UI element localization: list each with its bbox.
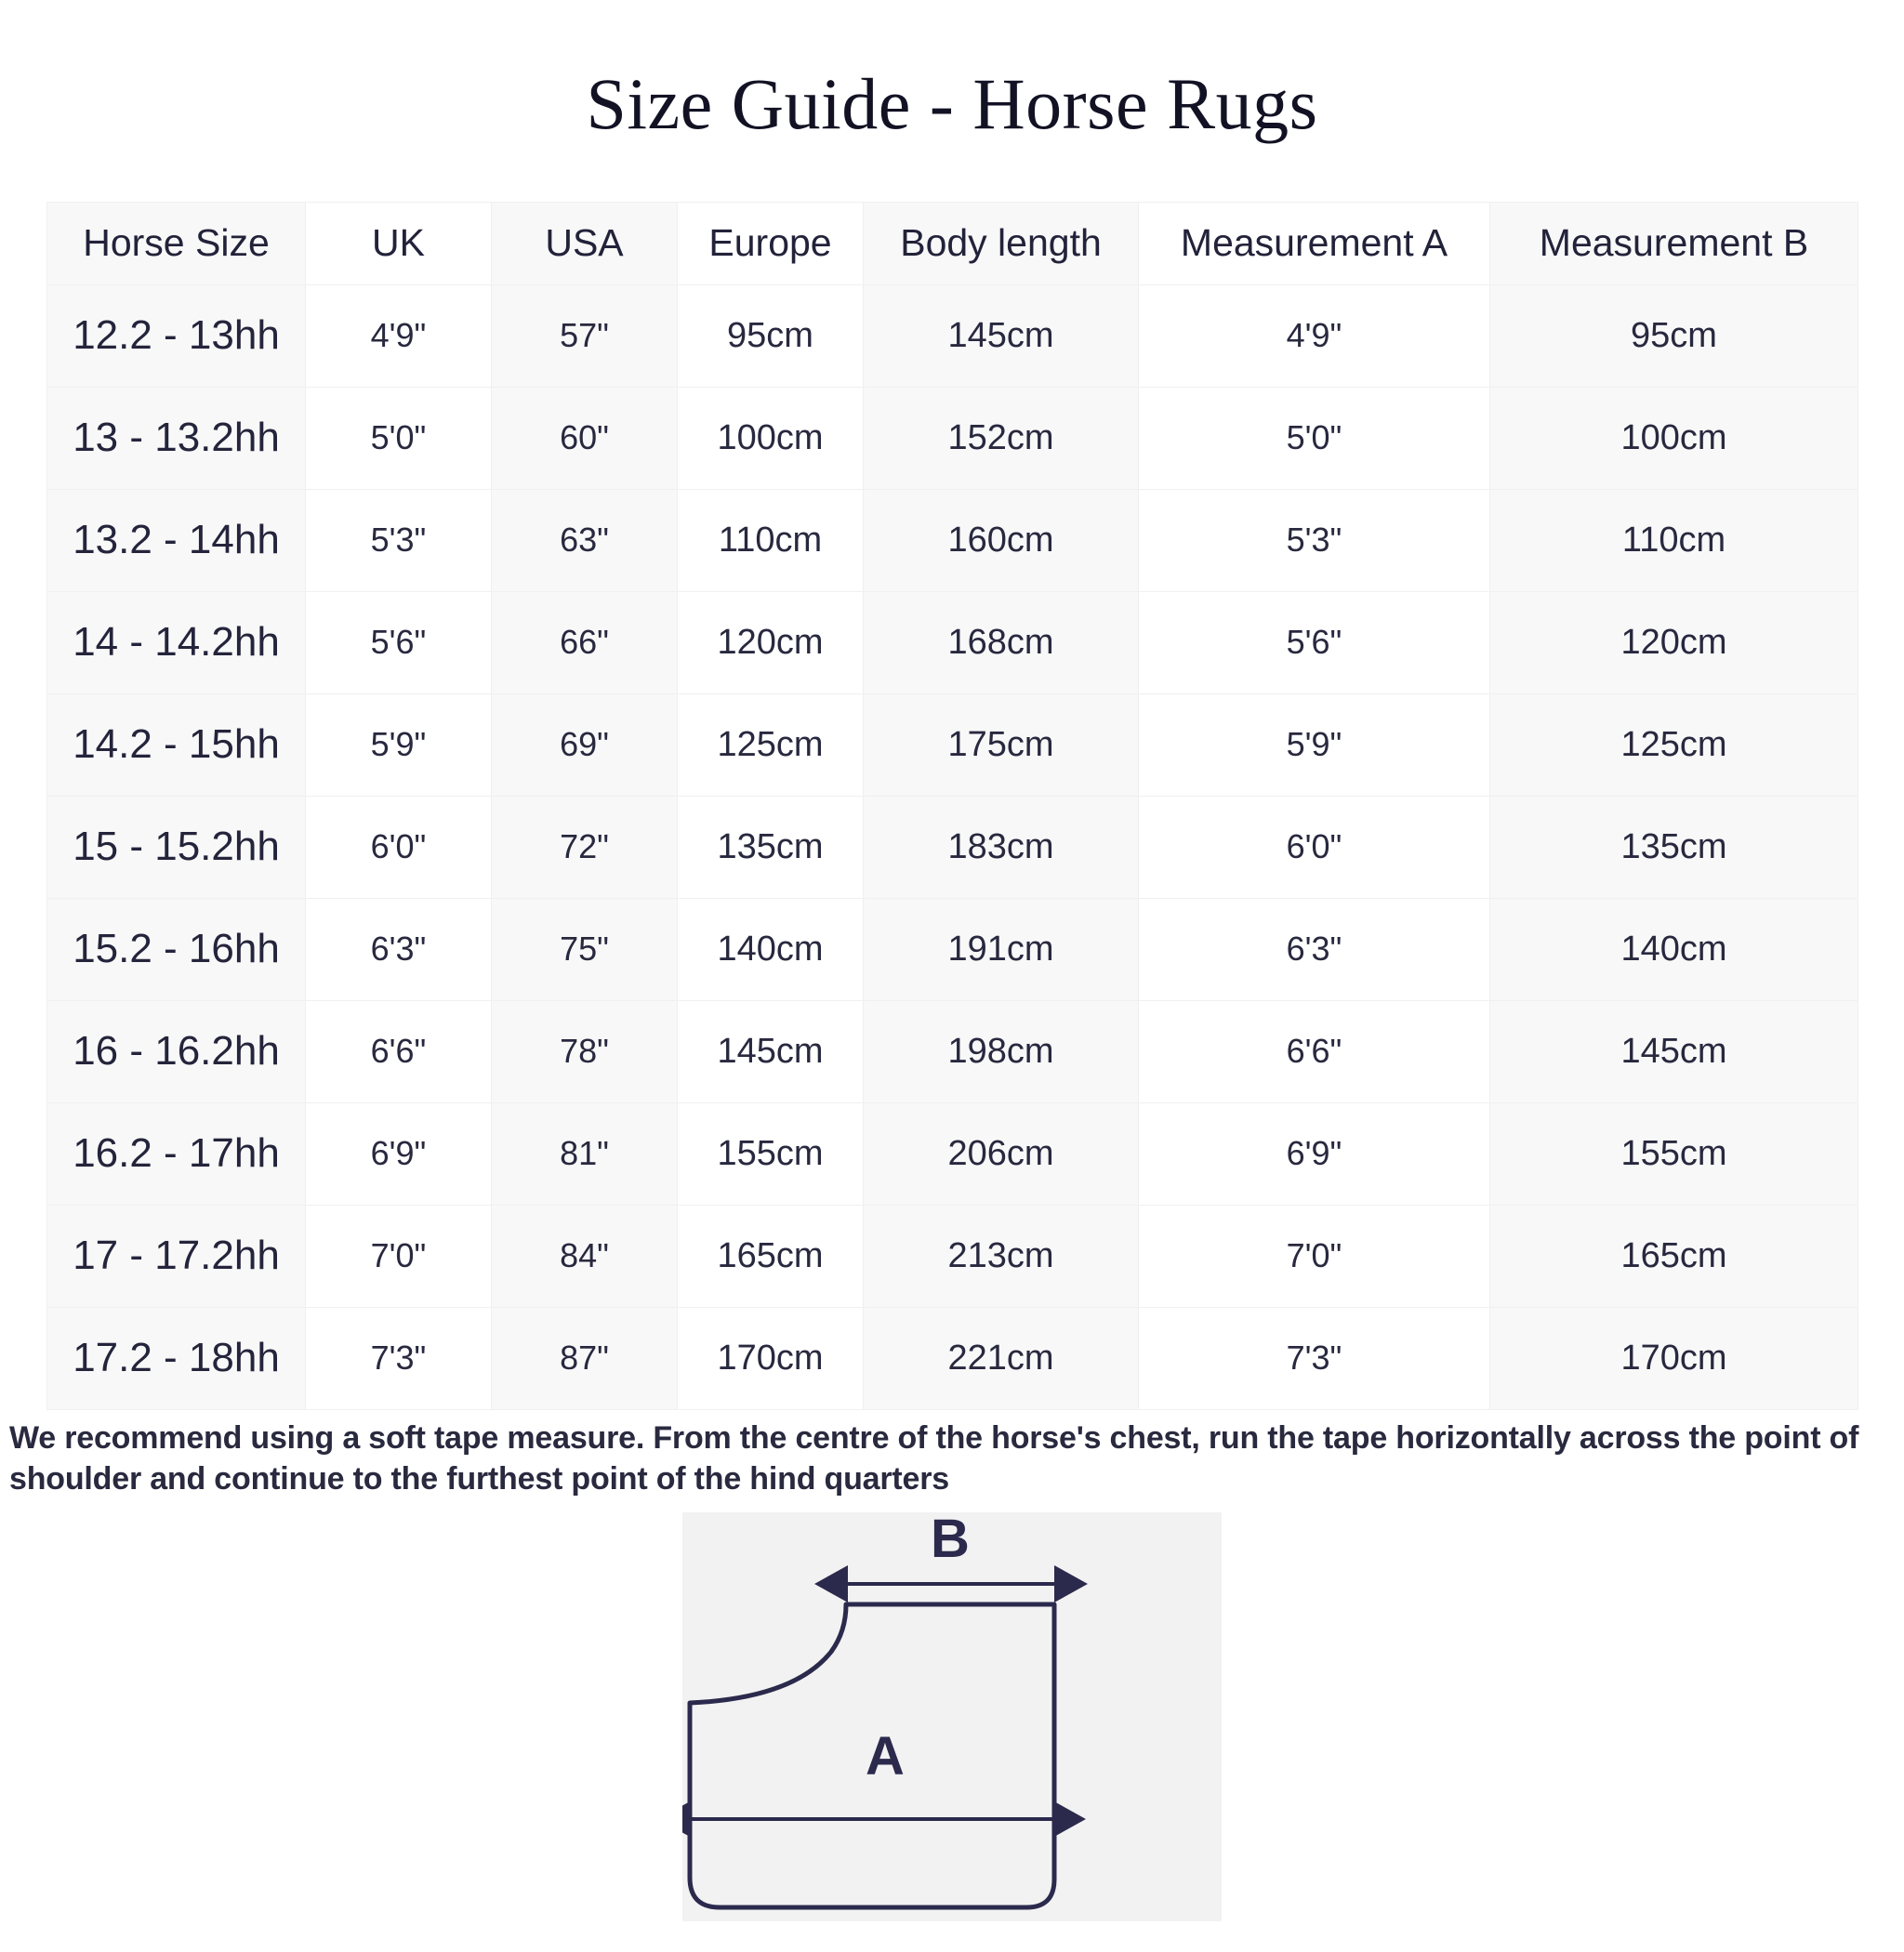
table-cell-horse-size: 12.2 - 13hh	[47, 284, 306, 387]
table-cell: 87"	[492, 1307, 678, 1409]
table-cell: 155cm	[1490, 1102, 1858, 1205]
table-cell-horse-size: 16.2 - 17hh	[47, 1102, 306, 1205]
table-cell: 5'0"	[1139, 387, 1490, 489]
table-cell: 160cm	[864, 489, 1139, 591]
rug-diagram-area: B A	[0, 1512, 1904, 1921]
column-header-europe: Europe	[678, 202, 864, 284]
table-cell: 5'9"	[306, 693, 492, 796]
table-cell: 72"	[492, 796, 678, 898]
table-cell: 152cm	[864, 387, 1139, 489]
table-row: 13 - 13.2hh5'0"60"100cm152cm5'0"100cm	[47, 387, 1858, 489]
table-cell: 60"	[492, 387, 678, 489]
table-cell: 6'9"	[1139, 1102, 1490, 1205]
table-cell: 175cm	[864, 693, 1139, 796]
table-cell: 5'3"	[1139, 489, 1490, 591]
table-cell: 155cm	[678, 1102, 864, 1205]
table-cell: 5'3"	[306, 489, 492, 591]
table-cell-horse-size: 15.2 - 16hh	[47, 898, 306, 1000]
table-header-row: Horse Size UK USA Europe Body length Mea…	[47, 202, 1858, 284]
table-cell: 75"	[492, 898, 678, 1000]
table-cell: 183cm	[864, 796, 1139, 898]
table-cell-horse-size: 16 - 16.2hh	[47, 1000, 306, 1102]
table-cell: 125cm	[678, 693, 864, 796]
table-cell: 6'9"	[306, 1102, 492, 1205]
column-header-usa: USA	[492, 202, 678, 284]
table-row: 14 - 14.2hh5'6"66"120cm168cm5'6"120cm	[47, 591, 1858, 693]
table-cell: 81"	[492, 1102, 678, 1205]
table-cell: 57"	[492, 284, 678, 387]
table-row: 17.2 - 18hh7'3"87"170cm221cm7'3"170cm	[47, 1307, 1858, 1409]
table-row: 15 - 15.2hh6'0"72"135cm183cm6'0"135cm	[47, 796, 1858, 898]
table-cell-horse-size: 17 - 17.2hh	[47, 1205, 306, 1307]
measuring-instructions: We recommend using a soft tape measure. …	[9, 1418, 1895, 1499]
table-cell: 95cm	[678, 284, 864, 387]
column-header-measurement-a: Measurement A	[1139, 202, 1490, 284]
size-table-container: Horse Size UK USA Europe Body length Mea…	[46, 202, 1858, 1410]
column-header-body-length: Body length	[864, 202, 1139, 284]
table-cell: 5'6"	[306, 591, 492, 693]
table-cell: 206cm	[864, 1102, 1139, 1205]
table-cell: 5'6"	[1139, 591, 1490, 693]
rug-diagram-panel: B A	[682, 1512, 1222, 1921]
table-cell: 221cm	[864, 1307, 1139, 1409]
table-cell: 120cm	[1490, 591, 1858, 693]
table-row: 15.2 - 16hh6'3"75"140cm191cm6'3"140cm	[47, 898, 1858, 1000]
table-row: 17 - 17.2hh7'0"84"165cm213cm7'0"165cm	[47, 1205, 1858, 1307]
page-title: Size Guide - Horse Rugs	[0, 48, 1904, 152]
column-header-measurement-b: Measurement B	[1490, 202, 1858, 284]
table-cell: 165cm	[678, 1205, 864, 1307]
table-cell: 69"	[492, 693, 678, 796]
table-cell: 140cm	[1490, 898, 1858, 1000]
table-cell-horse-size: 14.2 - 15hh	[47, 693, 306, 796]
table-cell: 213cm	[864, 1205, 1139, 1307]
table-cell: 170cm	[678, 1307, 864, 1409]
table-cell: 165cm	[1490, 1205, 1858, 1307]
column-header-uk: UK	[306, 202, 492, 284]
rug-diagram-svg: B A	[682, 1512, 1222, 1921]
table-cell-horse-size: 13 - 13.2hh	[47, 387, 306, 489]
table-cell: 78"	[492, 1000, 678, 1102]
table-cell: 110cm	[678, 489, 864, 591]
table-cell: 7'0"	[306, 1205, 492, 1307]
table-header: Horse Size UK USA Europe Body length Mea…	[47, 202, 1858, 284]
table-cell: 5'0"	[306, 387, 492, 489]
table-cell-horse-size: 13.2 - 14hh	[47, 489, 306, 591]
table-cell-horse-size: 17.2 - 18hh	[47, 1307, 306, 1409]
table-cell: 145cm	[1490, 1000, 1858, 1102]
table-cell: 5'9"	[1139, 693, 1490, 796]
table-cell: 63"	[492, 489, 678, 591]
table-cell: 7'0"	[1139, 1205, 1490, 1307]
table-row: 13.2 - 14hh5'3"63"110cm160cm5'3"110cm	[47, 489, 1858, 591]
table-cell: 145cm	[864, 284, 1139, 387]
table-cell: 66"	[492, 591, 678, 693]
table-cell: 170cm	[1490, 1307, 1858, 1409]
diagram-label-a: A	[866, 1726, 905, 1787]
table-cell: 120cm	[678, 591, 864, 693]
table-cell: 168cm	[864, 591, 1139, 693]
table-cell: 4'9"	[306, 284, 492, 387]
table-cell: 110cm	[1490, 489, 1858, 591]
table-cell: 135cm	[1490, 796, 1858, 898]
size-table: Horse Size UK USA Europe Body length Mea…	[46, 202, 1858, 1410]
table-row: 16.2 - 17hh6'9"81"155cm206cm6'9"155cm	[47, 1102, 1858, 1205]
table-cell: 198cm	[864, 1000, 1139, 1102]
table-cell: 6'6"	[306, 1000, 492, 1102]
table-row: 12.2 - 13hh4'9"57"95cm145cm4'9"95cm	[47, 284, 1858, 387]
table-cell: 125cm	[1490, 693, 1858, 796]
table-cell: 100cm	[1490, 387, 1858, 489]
table-cell: 6'6"	[1139, 1000, 1490, 1102]
table-cell: 7'3"	[306, 1307, 492, 1409]
table-cell: 140cm	[678, 898, 864, 1000]
table-cell: 95cm	[1490, 284, 1858, 387]
table-cell: 191cm	[864, 898, 1139, 1000]
table-cell: 135cm	[678, 796, 864, 898]
table-cell: 6'3"	[306, 898, 492, 1000]
table-row: 16 - 16.2hh6'6"78"145cm198cm6'6"145cm	[47, 1000, 1858, 1102]
table-cell: 100cm	[678, 387, 864, 489]
table-cell: 7'3"	[1139, 1307, 1490, 1409]
table-cell-horse-size: 15 - 15.2hh	[47, 796, 306, 898]
table-cell: 6'3"	[1139, 898, 1490, 1000]
table-row: 14.2 - 15hh5'9"69"125cm175cm5'9"125cm	[47, 693, 1858, 796]
table-cell: 145cm	[678, 1000, 864, 1102]
size-guide-page: Size Guide - Horse Rugs Horse Size UK US…	[0, 48, 1904, 1952]
column-header-horse-size: Horse Size	[47, 202, 306, 284]
table-body: 12.2 - 13hh4'9"57"95cm145cm4'9"95cm13 - …	[47, 284, 1858, 1409]
diagram-label-b: B	[931, 1512, 970, 1569]
table-cell-horse-size: 14 - 14.2hh	[47, 591, 306, 693]
table-cell: 6'0"	[1139, 796, 1490, 898]
table-cell: 4'9"	[1139, 284, 1490, 387]
table-cell: 84"	[492, 1205, 678, 1307]
table-cell: 6'0"	[306, 796, 492, 898]
